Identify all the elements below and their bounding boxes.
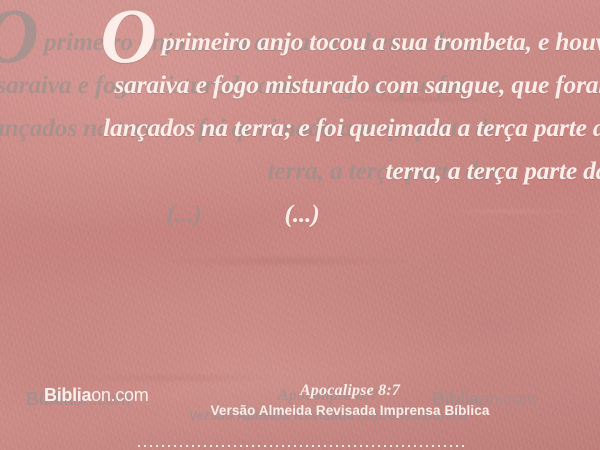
verse-dropcap: O xyxy=(100,0,155,79)
verse-image-card: O primeiro anjo tocou a sua trombeta, e … xyxy=(0,0,600,450)
verse-dropcap-shadow: O xyxy=(0,0,38,79)
brand-logo-watermark-right: Bibliaon.com xyxy=(432,389,536,410)
bible-version: Versão Almeida Revisada Imprensa Bíblica xyxy=(150,403,550,418)
reference-block-shadow: Apocalipse 8:7 Versão Almeida Revisada I… xyxy=(128,387,528,423)
verse-reference: Apocalipse 8:7 xyxy=(150,382,550,400)
brand-logo-shadow: Bibliaon.com xyxy=(26,389,130,410)
brand-logo-thin-shadow: on.com xyxy=(73,389,130,409)
brand-logo-thin: on.com xyxy=(91,385,148,405)
brand-logo-watermark-thin: on.com xyxy=(479,389,536,409)
brand-logo-watermark-bold: Biblia xyxy=(432,389,479,409)
verse-truncation: (...) xyxy=(58,192,600,235)
verse-reference-shadow: Apocalipse 8:7 xyxy=(128,387,528,405)
brand-logo[interactable]: Bibliaon.com xyxy=(44,385,148,406)
verse-text: O primeiro anjo tocou a sua trombeta, e … xyxy=(58,12,600,235)
bible-version-shadow: Versão Almeida Revisada Imprensa Bíblica xyxy=(128,408,528,423)
reference-block: Apocalipse 8:7 Versão Almeida Revisada I… xyxy=(150,382,550,418)
verse-body: primeiro anjo tocou a sua trombeta, e ho… xyxy=(103,27,600,185)
brand-logo-bold: Biblia xyxy=(44,385,91,405)
dotted-divider xyxy=(138,445,468,447)
brand-logo-bold-shadow: Biblia xyxy=(26,389,73,409)
